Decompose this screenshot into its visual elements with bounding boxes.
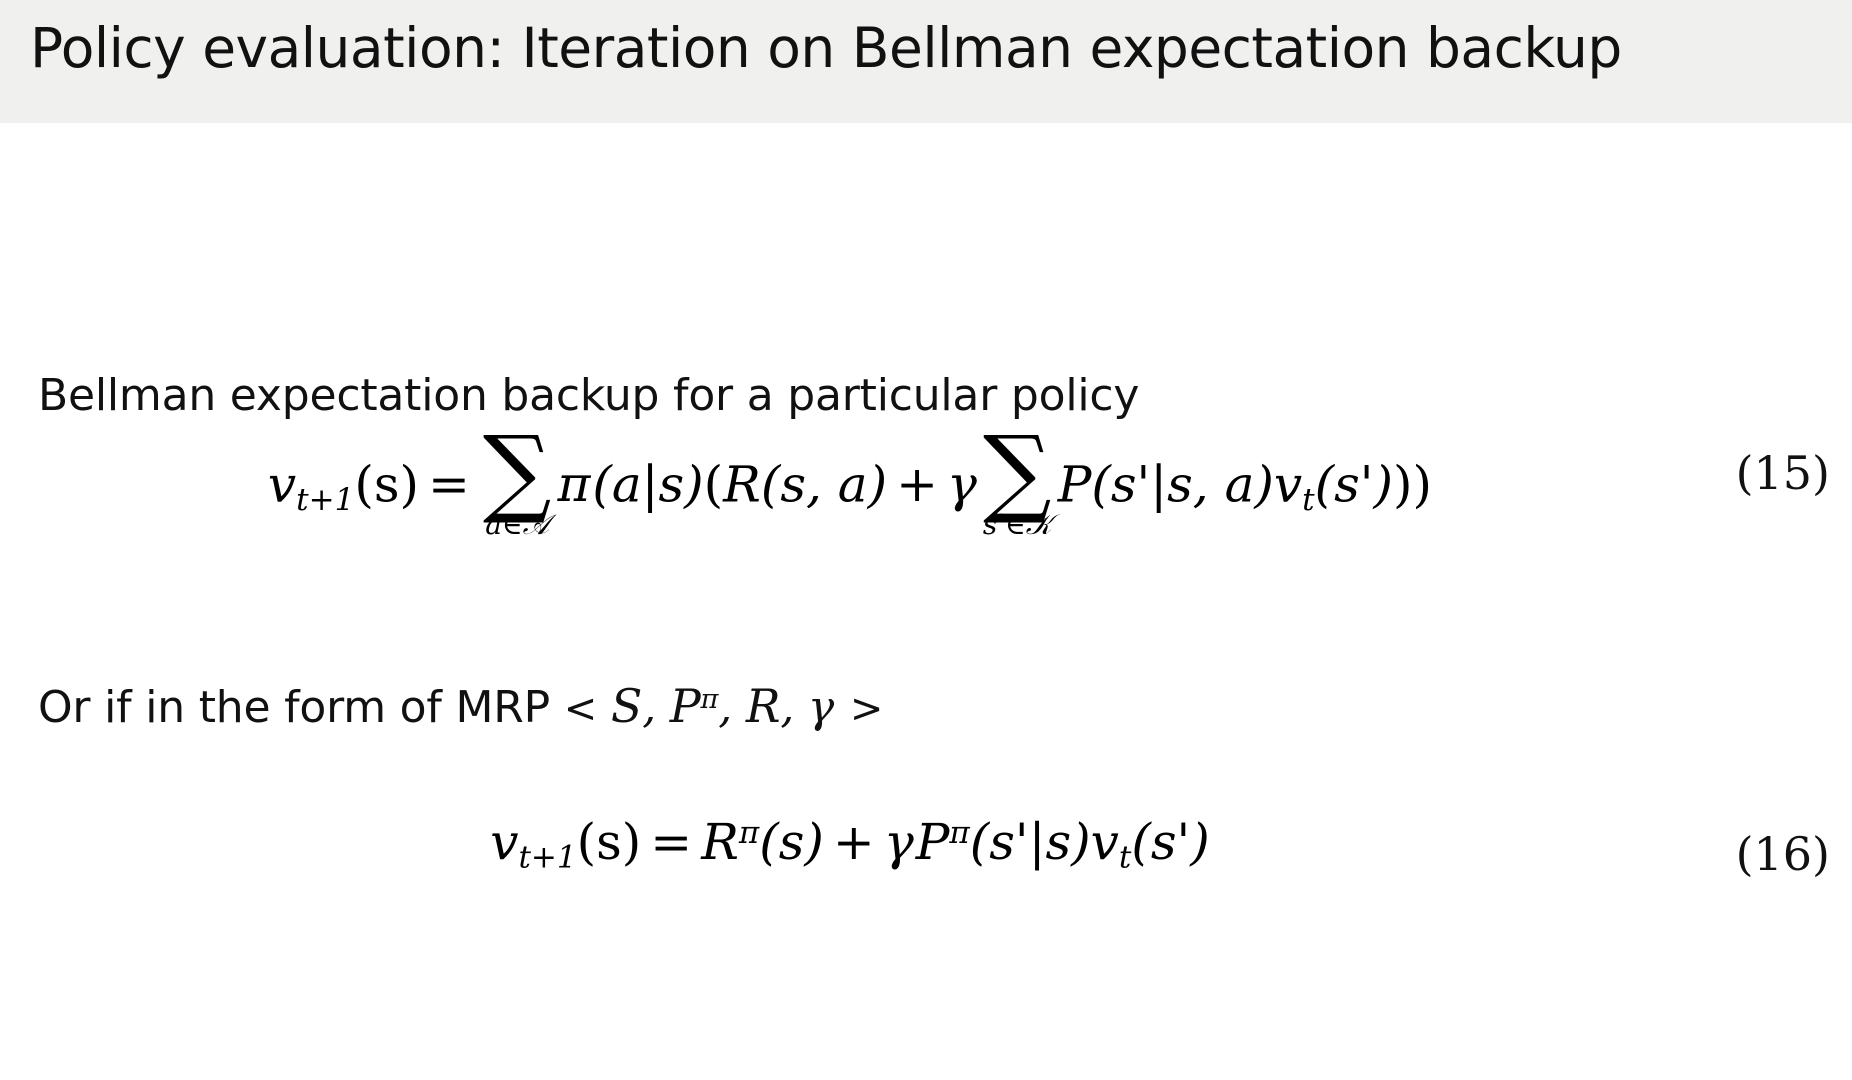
eq15-lhs-v: v: [268, 455, 296, 513]
body-text-line-2: Or if in the form of MRP < S, Pπ, R, γ >: [38, 679, 883, 733]
eq15-plus: +: [887, 455, 947, 513]
equation-15-expression: vt+1(s)=∑a∈𝒜π(a|s)(R(s, a)+γ∑s'∈𝒦P(s'|s,…: [0, 436, 1700, 541]
eq15-close-parens: )): [1393, 455, 1432, 513]
eq16-gamma: γ: [884, 813, 916, 871]
equation-block-15: vt+1(s)=∑a∈𝒜π(a|s)(R(s, a)+γ∑s'∈𝒦P(s'|s,…: [0, 406, 1852, 556]
eq15-lhs-arg: (s): [354, 455, 419, 513]
mrp-transition: P: [670, 679, 701, 733]
eq15-equals: =: [419, 455, 479, 513]
eq16-equals: =: [641, 813, 701, 871]
eq16-reward-arg: (s): [759, 813, 824, 871]
eq15-summation-2: ∑s'∈𝒦: [983, 434, 1052, 539]
sigma-icon: ∑: [483, 434, 552, 509]
equation-number-16: (16): [1736, 827, 1830, 881]
sigma-icon: ∑: [983, 434, 1052, 509]
eq15-reward: R: [723, 455, 761, 513]
eq16-prob-superscript: π: [949, 815, 969, 851]
eq16-prob: P: [916, 813, 950, 871]
eq15-value-subscript: t: [1302, 482, 1314, 518]
eq16-plus: +: [824, 813, 884, 871]
mrp-comma-1: ,: [642, 682, 656, 733]
eq15-open-paren: (: [704, 455, 724, 513]
mrp-state-set: S: [611, 679, 642, 733]
eq15-prob: P: [1058, 455, 1092, 513]
slide-body: Bellman expectation backup for a particu…: [0, 123, 1852, 1080]
mrp-tuple-open: <: [564, 686, 597, 732]
page-title: Policy evaluation: Iteration on Bellman …: [30, 16, 1622, 80]
eq16-value-arg: (s'): [1131, 813, 1209, 871]
eq15-reward-args: (s, a): [761, 455, 887, 513]
eq16-prob-args: (s'|s): [970, 813, 1091, 871]
mrp-comma-2: ,: [718, 682, 732, 733]
eq15-sum-2-limit: s'∈𝒦: [983, 511, 1052, 539]
eq16-lhs-arg: (s): [577, 813, 642, 871]
eq15-lhs-subscript: t+1: [296, 482, 354, 518]
eq16-reward: R: [701, 813, 739, 871]
eq16-lhs-subscript: t+1: [518, 840, 576, 876]
mrp-reward: R: [746, 679, 780, 733]
mrp-tuple-close: >: [850, 686, 883, 732]
body-text-line-2-prefix: Or if in the form of MRP: [38, 682, 564, 733]
eq15-sum-1-limit: a∈𝒜: [483, 511, 552, 539]
eq16-lhs-v: v: [490, 813, 518, 871]
eq16-value-subscript: t: [1119, 840, 1131, 876]
mrp-comma-3: ,: [780, 682, 794, 733]
eq15-value: v: [1274, 455, 1302, 513]
eq15-pi: π: [557, 455, 592, 513]
eq15-pi-args: (a|s): [592, 455, 703, 513]
mrp-discount: γ: [808, 682, 836, 733]
slide-header: Policy evaluation: Iteration on Bellman …: [0, 0, 1852, 123]
eq16-reward-superscript: π: [739, 815, 759, 851]
equation-number-15: (15): [1736, 446, 1830, 500]
eq15-prob-args: (s'|s, a): [1091, 455, 1274, 513]
eq15-value-arg: (s'): [1315, 455, 1393, 513]
eq15-summation-1: ∑a∈𝒜: [483, 434, 552, 539]
eq16-value: v: [1091, 813, 1119, 871]
equation-block-16: vt+1(s)=Rπ(s)+γPπ(s'|s)vt(s') (16): [0, 783, 1852, 933]
equation-16-expression: vt+1(s)=Rπ(s)+γPπ(s'|s)vt(s'): [0, 817, 1700, 874]
eq15-gamma: γ: [947, 455, 979, 513]
mrp-tuple: < S, Pπ, R, γ >: [564, 682, 883, 733]
mrp-transition-superscript: π: [701, 684, 719, 715]
